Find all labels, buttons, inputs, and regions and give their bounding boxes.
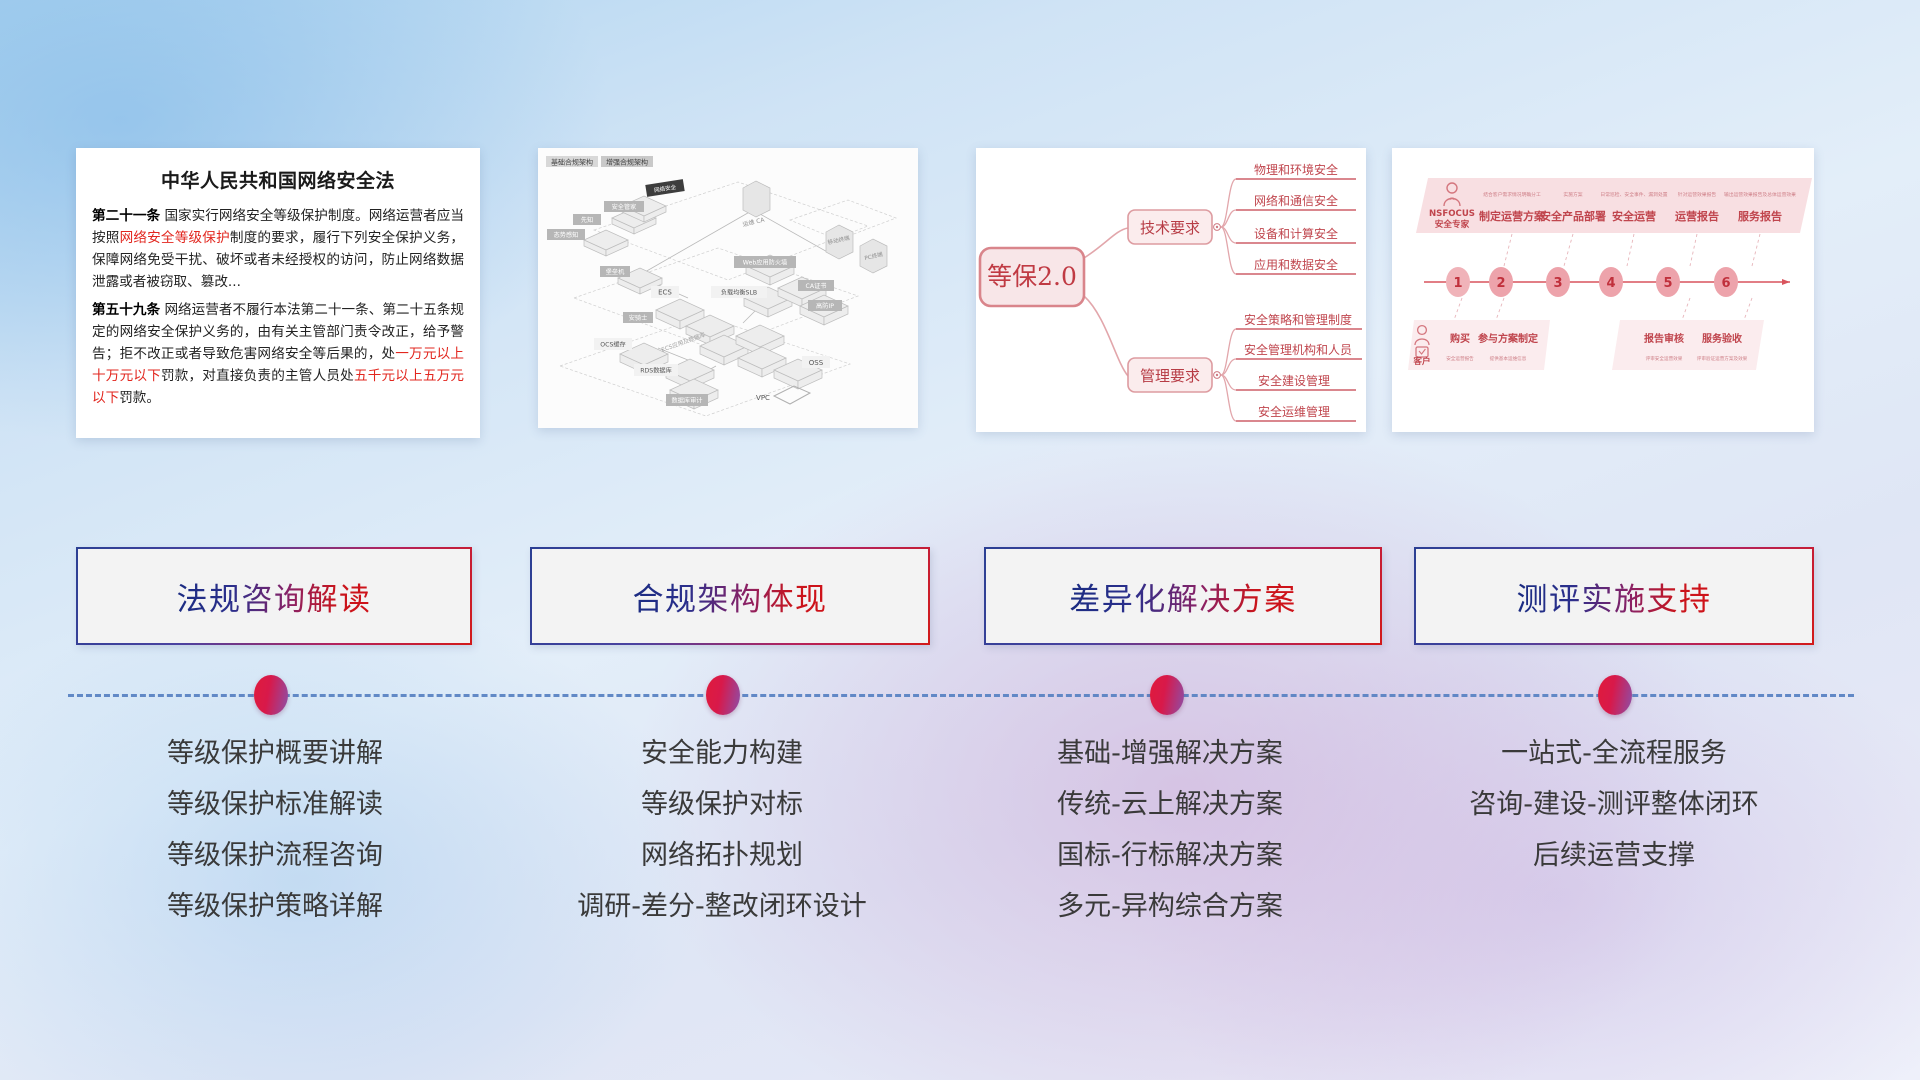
banner-label-2: 合规架构体现 xyxy=(633,574,828,619)
arch-label-vpc: VPC xyxy=(756,394,770,402)
nsfocus-provider-sub-4: 针对运营效果报告 xyxy=(1678,191,1717,198)
list-item: 传统-云上解决方案 xyxy=(970,791,1370,818)
timeline-dot-2[interactable] xyxy=(706,675,740,715)
poster-canvas: 中华人民共和国网络安全法 第二十一条 国家实行网络安全等级保护制度。网络运营者应… xyxy=(0,0,1920,1080)
nsfocus-timeline-diagram: NSFOCUS 安全专家 结合客户需求情况明确分工 制定运营方案 实施方案 安全… xyxy=(1392,148,1814,432)
list-item: 安全能力构建 xyxy=(522,740,922,767)
card-cybersecurity-law[interactable]: 中华人民共和国网络安全法 第二十一条 国家实行网络安全等级保护制度。网络运营者应… xyxy=(76,148,480,438)
arch-label-ocs-cache: OCS缓存 xyxy=(600,341,626,349)
arch-label-ca-cert: CA证书 xyxy=(806,282,827,290)
mindmap-child-m2: 安全管理机构和人员 xyxy=(1244,342,1352,357)
nsfocus-customer-sub-2: 提供基本运维信息 xyxy=(1490,355,1527,362)
mindmap-child-t4: 应用和数据安全 xyxy=(1254,257,1338,272)
nsfocus-provider-sub-3: 日常巡检、安全事件、漏洞处置 xyxy=(1600,191,1667,198)
arch-tab-enhanced-label: 增强合规架构 xyxy=(606,158,648,167)
nsfocus-expert-label-line1: NSFOCUS xyxy=(1429,209,1475,219)
arch-label-db-audit: 数据库审计 xyxy=(672,397,703,405)
nsfocus-provider-title-2: 安全产品部署 xyxy=(1540,209,1606,223)
mindmap-root-label: 等保2.0 xyxy=(987,262,1077,291)
card-dengbao-mindmap[interactable]: 等保2.0 技术要求 物理和环境安全 xyxy=(976,148,1366,432)
arch-label-situation-awareness: 态势感知 xyxy=(554,231,579,239)
law-paragraph-21: 第二十一条 国家实行网络安全等级保护制度。网络运营者应当按照网络安全等级保护制度… xyxy=(92,205,464,293)
list-item: 国标-行标解决方案 xyxy=(970,842,1370,869)
nsfocus-provider-title-1: 制定运营方案 xyxy=(1479,209,1546,223)
list-item: 网络拓扑规划 xyxy=(522,842,922,869)
mindmap-child-m4: 安全运维管理 xyxy=(1258,404,1330,419)
arch-label-oss: OSS xyxy=(809,359,824,367)
nsfocus-customer-band-right xyxy=(1612,320,1764,370)
arch-label-anti-ddos-ip: 高防IP xyxy=(816,302,834,310)
arch-tab-basic-label: 基础合规架构 xyxy=(551,158,593,167)
nsfocus-customer-sub-4: 评审验证运营方案及效果 xyxy=(1697,355,1748,362)
nsfocus-provider-sub-2: 实施方案 xyxy=(1563,191,1582,198)
banner-evaluation-support[interactable]: 测评实施支持 xyxy=(1414,547,1814,645)
nsfocus-customer-sub-3: 评审安全运营效果 xyxy=(1646,355,1683,362)
nsfocus-step-number-1: 1 xyxy=(1453,276,1462,291)
mindmap-child-t3: 设备和计算安全 xyxy=(1254,226,1338,241)
list-item: 调研-差分-整改闭环设计 xyxy=(522,893,922,920)
nsfocus-expert-label-line2: 安全专家 xyxy=(1435,218,1470,230)
nsfocus-provider-title-3: 安全运营 xyxy=(1612,209,1656,223)
banner-label-3: 差异化解决方案 xyxy=(1069,574,1297,619)
card-nsfocus-timeline[interactable]: NSFOCUS 安全专家 结合客户需求情况明确分工 制定运营方案 实施方案 安全… xyxy=(1392,148,1814,432)
law-run-1-highlight: 网络安全等级保护 xyxy=(120,230,230,246)
list-item: 等级保护流程咨询 xyxy=(80,842,470,869)
law59-run-2: 罚款，对直接负责的主管人员处 xyxy=(161,368,354,384)
banner-label-1: 法规咨询解读 xyxy=(177,574,372,619)
timeline-dot-1[interactable] xyxy=(254,675,288,715)
nsfocus-step-number-5: 5 xyxy=(1663,276,1672,291)
nsfocus-step-number-3: 3 xyxy=(1553,276,1562,291)
list-item: 等级保护标准解读 xyxy=(80,791,470,818)
mindmap-child-t1: 物理和环境安全 xyxy=(1254,162,1338,177)
nsfocus-customer-title-3: 报告审核 xyxy=(1644,332,1684,345)
nsfocus-step-number-6: 6 xyxy=(1721,276,1730,291)
screenshot-cards-row: 中华人民共和国网络安全法 第二十一条 国家实行网络安全等级保护制度。网络运营者应… xyxy=(0,148,1920,438)
list-item: 等级保护策略详解 xyxy=(80,893,470,920)
arch-label-security-butler: 安全管家 xyxy=(612,203,637,211)
nsfocus-step-number-2: 2 xyxy=(1496,276,1505,291)
nsfocus-customer-title-2: 参与方案制定 xyxy=(1478,332,1538,345)
banner-compliance-architecture[interactable]: 合规架构体现 xyxy=(530,547,930,645)
list-column-evaluation: 一站式-全流程服务 咨询-建设-测评整体闭环 后续运营支撑 xyxy=(1408,740,1820,893)
arch-label-xianzhi: 先知 xyxy=(581,216,593,224)
timeline-dashed-line xyxy=(68,694,1854,697)
card-compliance-architecture[interactable]: 基础合规架构 增强合规架构 xyxy=(538,148,918,428)
law-paragraph-59: 第五十九条 网络运营者不履行本法第二十一条、第二十五条规定的网络安全保护义务的，… xyxy=(92,299,464,409)
nsfocus-provider-sub-5: 输出运营效果报告及总体运营效果 xyxy=(1724,191,1796,198)
law-article-label-21: 第二十一条 xyxy=(92,208,160,224)
arch-label-anqishi: 安骑士 xyxy=(629,314,648,322)
nsfocus-customer-title-4: 服务验收 xyxy=(1702,332,1742,345)
law-body: 第二十一条 国家实行网络安全等级保护制度。网络运营者应当按照网络安全等级保护制度… xyxy=(76,205,480,409)
nsfocus-provider-title-5: 服务报告 xyxy=(1738,209,1782,223)
mindmap-child-m1: 安全策略和管理制度 xyxy=(1244,312,1352,327)
law59-run-4: 罚款。 xyxy=(119,390,160,406)
mindmap-branch-technical-label: 技术要求 xyxy=(1140,219,1200,237)
nsfocus-step-number-4: 4 xyxy=(1606,276,1615,291)
nsfocus-provider-band xyxy=(1416,178,1812,233)
nsfocus-provider-sub-1: 结合客户需求情况明确分工 xyxy=(1483,191,1541,198)
mindmap-branch-management-label: 管理要求 xyxy=(1140,367,1200,385)
banner-differentiated-solution[interactable]: 差异化解决方案 xyxy=(984,547,1382,645)
list-column-architecture: 安全能力构建 等级保护对标 网络拓扑规划 调研-差分-整改闭环设计 xyxy=(522,740,922,944)
banner-label-4: 测评实施支持 xyxy=(1517,574,1712,619)
list-item: 多元-异构综合方案 xyxy=(970,893,1370,920)
nsfocus-provider-title-4: 运营报告 xyxy=(1675,209,1719,223)
law-article-label-59: 第五十九条 xyxy=(92,302,160,318)
list-column-solution: 基础-增强解决方案 传统-云上解决方案 国标-行标解决方案 多元-异构综合方案 xyxy=(970,740,1370,944)
arch-label-bastion-host: 堡垒机 xyxy=(606,268,625,276)
list-item: 一站式-全流程服务 xyxy=(1408,740,1820,767)
arch-label-ecs: ECS xyxy=(658,289,672,297)
list-item: 基础-增强解决方案 xyxy=(970,740,1370,767)
nsfocus-customer-sub-1: 安全运营报告 xyxy=(1446,355,1474,362)
arch-label-rds-db: RDS数据库 xyxy=(640,367,672,375)
list-item: 咨询-建设-测评整体闭环 xyxy=(1408,791,1820,818)
nsfocus-customer-title-1: 购买 xyxy=(1450,332,1470,345)
timeline-dot-3[interactable] xyxy=(1150,675,1184,715)
nsfocus-customer-label: 客户 xyxy=(1412,355,1430,367)
arch-label-waf: Web应用防火墙 xyxy=(743,259,787,267)
mindmap-root-node: 等保2.0 xyxy=(980,248,1084,306)
list-item: 等级保护概要讲解 xyxy=(80,740,470,767)
law-title: 中华人民共和国网络安全法 xyxy=(76,166,480,193)
mindmap-child-m3: 安全建设管理 xyxy=(1258,373,1330,388)
timeline-dot-4[interactable] xyxy=(1598,675,1632,715)
arch-label-slb: 负载均衡SLB xyxy=(721,289,757,297)
architecture-diagram: 基础合规架构 增强合规架构 xyxy=(538,148,918,428)
list-column-regulation: 等级保护概要讲解 等级保护标准解读 等级保护流程咨询 等级保护策略详解 xyxy=(80,740,470,944)
mindmap-diagram: 等保2.0 技术要求 物理和环境安全 xyxy=(976,148,1366,432)
list-item: 等级保护对标 xyxy=(522,791,922,818)
banner-regulation-consulting[interactable]: 法规咨询解读 xyxy=(76,547,472,645)
list-item: 后续运营支撑 xyxy=(1408,842,1820,869)
mindmap-child-t2: 网络和通信安全 xyxy=(1254,193,1338,208)
